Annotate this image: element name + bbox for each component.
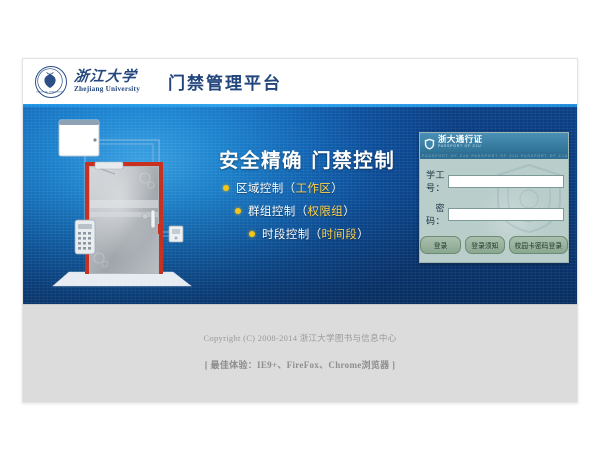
- site-footer: Copyright (C) 2008-2014 浙江大学图书与信息中心 [ 最佳…: [23, 304, 577, 403]
- login-panel: 浙大通行证 PASSPORT OF ZJU PASSPORT OF ZJU PA…: [419, 132, 569, 263]
- feature-label-suffix: ）: [331, 181, 343, 195]
- login-button[interactable]: 登录: [420, 236, 462, 254]
- page-title: 门禁管理平台: [168, 69, 282, 94]
- access-control-door-illustration: [41, 112, 201, 297]
- password-input[interactable]: [448, 208, 564, 221]
- feature-list: 区域控制（工作区） 群组控制（权限组） 时段控制（时间段）: [223, 180, 433, 249]
- svg-text:ZHEJIANG UNIVERSITY: ZHEJIANG UNIVERSITY: [36, 90, 64, 93]
- login-form: 学工号： 密 码： 登录 登录须知 校园卡密码登录: [420, 159, 568, 262]
- username-input[interactable]: [448, 175, 564, 188]
- username-row: 学工号：: [426, 168, 562, 194]
- feature-label-text: 时段控制（: [262, 227, 322, 241]
- feature-label-highlight: 权限组: [308, 204, 344, 218]
- hero-banner: 安全精确 门禁控制 区域控制（工作区） 群组控制（权限组） 时段控制（时间段）: [23, 104, 577, 304]
- feature-label-suffix: ）: [357, 227, 369, 241]
- browser-compatibility-note: [ 最佳体验：IE9+、FireFox、Chrome浏览器 ]: [23, 344, 577, 371]
- banner-headline: 安全精确 门禁控制: [219, 144, 395, 173]
- bullet-dot-icon: [223, 185, 229, 191]
- feature-label-text: 群组控制（: [248, 204, 308, 218]
- feature-label-highlight: 工作区: [296, 181, 332, 195]
- copyright-text: Copyright (C) 2008-2014 浙江大学图书与信息中心: [23, 305, 577, 344]
- wordmark-cn: 浙江大学: [73, 70, 141, 85]
- bullet-dot-icon: [235, 208, 241, 214]
- feature-label-suffix: ）: [343, 204, 355, 218]
- zju-seal-icon: ZHEJIANG UNIVERSITY: [35, 66, 67, 98]
- feature-item-area-control: 区域控制（工作区）: [223, 180, 433, 196]
- feature-item-time-control: 时段控制（时间段）: [223, 226, 433, 242]
- password-label: 密 码：: [426, 201, 448, 227]
- site-header: ZHEJIANG UNIVERSITY 浙江大学 Zhejiang Univer…: [23, 59, 577, 104]
- login-panel-title-block: 浙大通行证 PASSPORT OF ZJU: [438, 136, 483, 149]
- campus-card-login-button[interactable]: 校园卡密码登录: [509, 236, 569, 254]
- feature-label: 时段控制（时间段）: [262, 226, 369, 242]
- feature-label: 区域控制（工作区）: [236, 180, 343, 196]
- login-notice-button[interactable]: 登录须知: [465, 236, 504, 254]
- university-wordmark: 浙江大学 Zhejiang University: [74, 70, 140, 94]
- username-label: 学工号：: [426, 168, 448, 194]
- login-panel-watermark-strip: PASSPORT OF ZJU PASSPORT OF ZJU PASSPORT…: [420, 152, 568, 159]
- feature-label-highlight: 时间段: [322, 227, 358, 241]
- feature-label-text: 区域控制（: [236, 181, 296, 195]
- login-panel-title-en: PASSPORT OF ZJU: [438, 145, 483, 149]
- feature-item-group-control: 群组控制（权限组）: [223, 203, 433, 219]
- feature-label: 群组控制（权限组）: [248, 203, 355, 219]
- page-container: ZHEJIANG UNIVERSITY 浙江大学 Zhejiang Univer…: [22, 58, 578, 403]
- bullet-dot-icon: [249, 231, 255, 237]
- login-panel-title-cn: 浙大通行证: [438, 136, 483, 145]
- wordmark-en: Zhejiang University: [74, 86, 140, 93]
- university-logo[interactable]: ZHEJIANG UNIVERSITY 浙江大学 Zhejiang Univer…: [35, 66, 140, 98]
- login-button-group: 登录 登录须知 校园卡密码登录: [426, 236, 562, 254]
- login-panel-header: 浙大通行证 PASSPORT OF ZJU: [420, 133, 568, 152]
- password-row: 密 码：: [426, 201, 562, 227]
- banner-top-accent-line: [23, 104, 577, 107]
- shield-icon: [424, 137, 435, 149]
